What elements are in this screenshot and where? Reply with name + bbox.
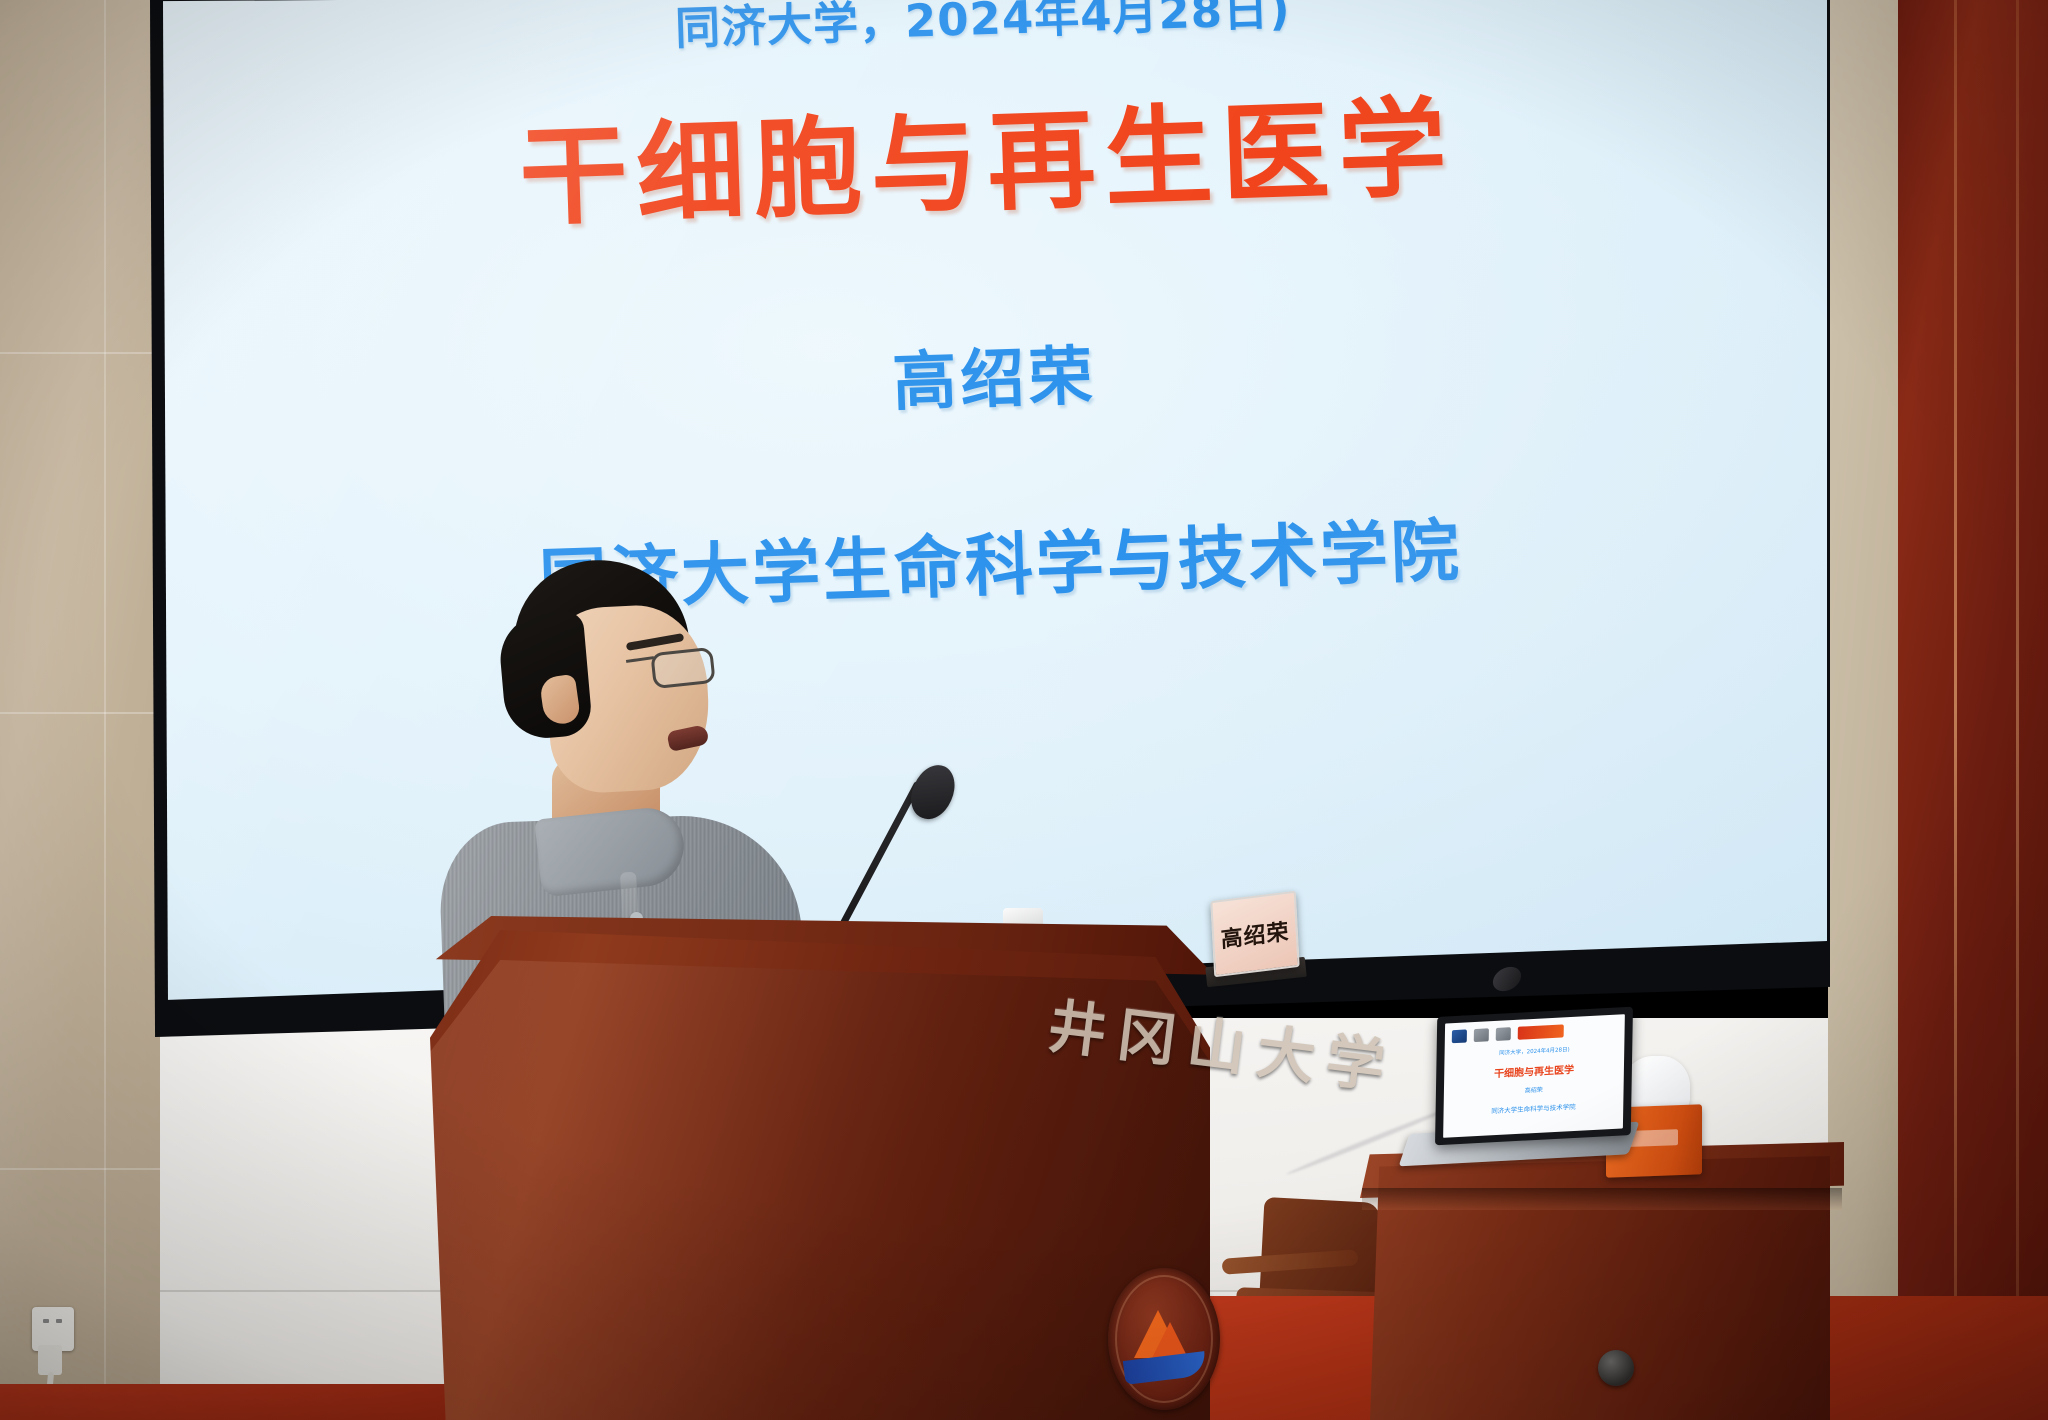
laptop-slide-speaker: 高绍荣: [1444, 1080, 1624, 1098]
presenter-laptop[interactable]: 同济大学，2024年4月28日) 干细胞与再生医学 高绍荣 同济大学生命科学与技…: [1435, 1007, 1633, 1146]
stage-floor-left: [0, 1384, 470, 1420]
presenter-glasses: [608, 646, 720, 692]
conference-banner-icon: [1518, 1024, 1564, 1039]
university-logo-icon: [1452, 1029, 1467, 1043]
university-emblem-icon: [1108, 1268, 1220, 1410]
society-logo-icon: [1496, 1027, 1511, 1041]
left-wall-panel: [0, 0, 175, 1420]
presenter-hair-side: [497, 610, 593, 741]
side-table-edge: [1362, 1188, 1842, 1210]
table-knob: [1598, 1350, 1634, 1386]
outlet-plug: [38, 1345, 62, 1375]
nameplate-text: 高绍荣: [1220, 914, 1290, 954]
right-wood-column: [1898, 0, 2048, 1420]
projection-screen: [163, 0, 1827, 1006]
chair-backrest: [1260, 1197, 1381, 1299]
speaker-nameplate: 高绍荣: [1210, 891, 1299, 978]
laptop-slide-title: 干细胞与再生医学: [1444, 1058, 1624, 1082]
lecture-hall-photo: 同济大学，2024年4月28日) 干细胞与再生医学 高绍荣 同济大学生命科学与技…: [0, 0, 2048, 1420]
laptop-slide-venue: 同济大学，2024年4月28日): [1444, 1042, 1624, 1059]
institute-logo-icon: [1474, 1028, 1489, 1042]
laptop-slide-affiliation: 同济大学生命科学与技术学院: [1443, 1098, 1623, 1117]
laptop-slide-logos: [1452, 1020, 1618, 1045]
laptop-screen: 同济大学，2024年4月28日) 干细胞与再生医学 高绍荣 同济大学生命科学与技…: [1443, 1014, 1625, 1138]
